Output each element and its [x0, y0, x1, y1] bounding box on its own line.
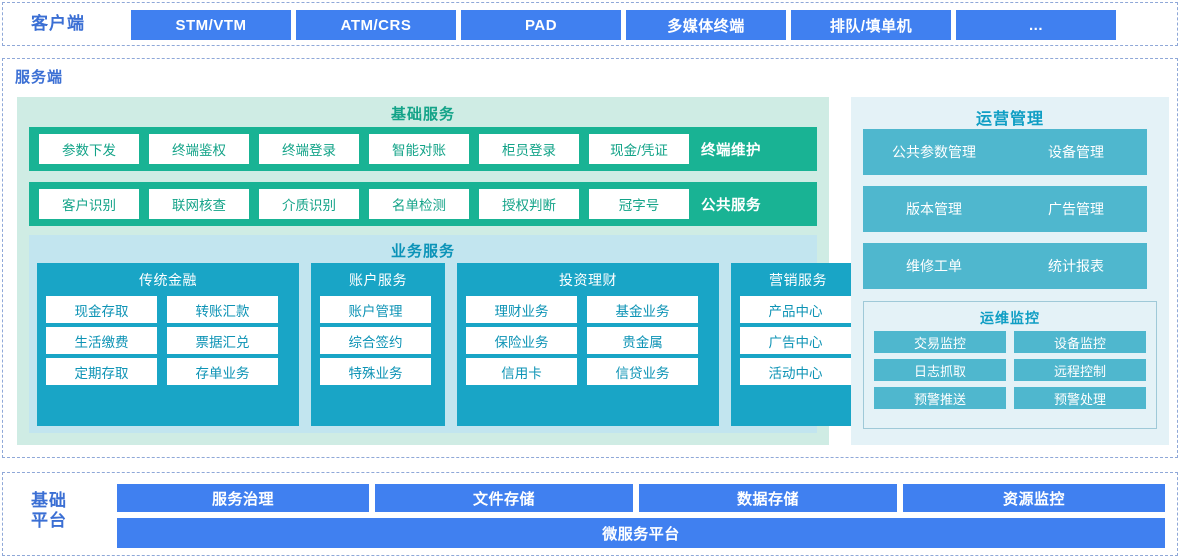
base-platform-chip[interactable]: 资源监控: [903, 484, 1165, 512]
business-column-items: 理财业务基金业务保险业务贵金属信用卡信贷业务: [457, 292, 719, 393]
base-platform-microservice-bar[interactable]: 微服务平台: [117, 518, 1165, 548]
business-service-chip[interactable]: 基金业务: [587, 296, 698, 323]
operations-chip[interactable]: 公共参数管理: [863, 129, 1005, 175]
base-platform-panel: 基础 平台 微服务平台 服务治理文件存储数据存储资源监控: [2, 472, 1178, 556]
basic-service-chip[interactable]: 冠字号: [589, 189, 689, 219]
business-column-title: 投资理财: [457, 268, 719, 292]
client-layer-panel: 客户端 STM/VTMATM/CRSPAD多媒体终端排队/填单机...: [2, 2, 1178, 46]
base-platform-chip[interactable]: 服务治理: [117, 484, 369, 512]
business-service-chip[interactable]: 保险业务: [466, 327, 577, 354]
operations-management-title: 运营管理: [851, 105, 1169, 129]
basic-service-group-tag: 公共服务: [701, 194, 761, 215]
business-service-chip[interactable]: 账户管理: [320, 296, 431, 323]
client-item-4[interactable]: 多媒体终端: [626, 10, 786, 40]
basic-services-row-terminal: 参数下发终端鉴权终端登录智能对账柜员登录现金/凭证终端维护: [29, 127, 817, 171]
business-column-items: 现金存取转账汇款生活缴费票据汇兑定期存取存单业务: [37, 292, 299, 393]
basic-service-chip[interactable]: 介质识别: [259, 189, 359, 219]
base-platform-chip[interactable]: 文件存储: [375, 484, 633, 512]
business-service-chip[interactable]: 存单业务: [167, 358, 278, 385]
server-layer-label: 服务端: [15, 69, 63, 87]
business-column-3: 投资理财理财业务基金业务保险业务贵金属信用卡信贷业务: [457, 263, 719, 426]
monitoring-chip[interactable]: 日志抓取: [874, 359, 1006, 381]
monitoring-chip[interactable]: 预警推送: [874, 387, 1006, 409]
basic-service-chip[interactable]: 现金/凭证: [589, 134, 689, 164]
business-services-area: 业务服务 传统金融现金存取转账汇款生活缴费票据汇兑定期存取存单业务账户服务账户管…: [29, 235, 817, 433]
basic-service-chip[interactable]: 柜员登录: [479, 134, 579, 164]
monitoring-chip[interactable]: 设备监控: [1014, 331, 1146, 353]
architecture-diagram: 客户端 STM/VTMATM/CRSPAD多媒体终端排队/填单机... 服务端 …: [0, 0, 1180, 560]
client-item-5[interactable]: 排队/填单机: [791, 10, 951, 40]
business-service-chip[interactable]: 产品中心: [740, 296, 851, 323]
business-service-chip[interactable]: 广告中心: [740, 327, 851, 354]
monitoring-chip[interactable]: 远程控制: [1014, 359, 1146, 381]
operations-management-area: 运营管理 运维监控 交易监控设备监控日志抓取远程控制预警推送预警处理 公共参数管…: [851, 97, 1169, 445]
business-service-chip[interactable]: 信用卡: [466, 358, 577, 385]
business-services-title: 业务服务: [29, 240, 817, 261]
monitoring-chip[interactable]: 预警处理: [1014, 387, 1146, 409]
server-layer-panel: 服务端 基础服务 参数下发终端鉴权终端登录智能对账柜员登录现金/凭证终端维护 客…: [2, 58, 1178, 458]
business-column-items: 产品中心广告中心活动中心: [731, 292, 865, 393]
operations-chip[interactable]: 广告管理: [1005, 186, 1147, 232]
client-layer-label: 客户端: [31, 14, 85, 34]
operations-chip[interactable]: 统计报表: [1005, 243, 1147, 289]
business-column-title: 传统金融: [37, 268, 299, 292]
operations-monitoring-box: 运维监控 交易监控设备监控日志抓取远程控制预警推送预警处理: [863, 301, 1157, 429]
basic-service-chip[interactable]: 联网核查: [149, 189, 249, 219]
operations-monitoring-title: 运维监控: [864, 308, 1156, 328]
client-item-1[interactable]: STM/VTM: [131, 10, 291, 40]
basic-service-chip[interactable]: 参数下发: [39, 134, 139, 164]
business-service-chip[interactable]: 贵金属: [587, 327, 698, 354]
client-item-2[interactable]: ATM/CRS: [296, 10, 456, 40]
business-service-chip[interactable]: 生活缴费: [46, 327, 157, 354]
basic-services-area: 基础服务 参数下发终端鉴权终端登录智能对账柜员登录现金/凭证终端维护 客户识别联…: [17, 97, 829, 445]
client-item-6[interactable]: ...: [956, 10, 1116, 40]
business-service-chip[interactable]: 特殊业务: [320, 358, 431, 385]
basic-services-row-public: 客户识别联网核查介质识别名单检测授权判断冠字号公共服务: [29, 182, 817, 226]
operations-chip[interactable]: 维修工单: [863, 243, 1005, 289]
business-service-chip[interactable]: 定期存取: [46, 358, 157, 385]
monitoring-chip[interactable]: 交易监控: [874, 331, 1006, 353]
basic-service-group-tag: 终端维护: [701, 139, 761, 160]
business-column-title: 营销服务: [731, 268, 865, 292]
business-service-chip[interactable]: 理财业务: [466, 296, 577, 323]
business-column-4: 营销服务产品中心广告中心活动中心: [731, 263, 865, 426]
business-service-chip[interactable]: 票据汇兑: [167, 327, 278, 354]
basic-service-chip[interactable]: 智能对账: [369, 134, 469, 164]
business-column-1: 传统金融现金存取转账汇款生活缴费票据汇兑定期存取存单业务: [37, 263, 299, 426]
basic-service-chip[interactable]: 终端鉴权: [149, 134, 249, 164]
business-column-items: 账户管理综合签约特殊业务: [311, 292, 445, 393]
business-service-chip[interactable]: 转账汇款: [167, 296, 278, 323]
basic-service-chip[interactable]: 名单检测: [369, 189, 469, 219]
base-platform-chip[interactable]: 数据存储: [639, 484, 897, 512]
basic-service-chip[interactable]: 终端登录: [259, 134, 359, 164]
basic-services-title: 基础服务: [17, 103, 829, 124]
basic-service-chip[interactable]: 客户识别: [39, 189, 139, 219]
operations-chip[interactable]: 版本管理: [863, 186, 1005, 232]
client-item-3[interactable]: PAD: [461, 10, 621, 40]
business-service-chip[interactable]: 信贷业务: [587, 358, 698, 385]
base-platform-label: 基础 平台: [31, 491, 67, 531]
business-service-chip[interactable]: 活动中心: [740, 358, 851, 385]
business-service-chip[interactable]: 综合签约: [320, 327, 431, 354]
operations-chip[interactable]: 设备管理: [1005, 129, 1147, 175]
basic-service-chip[interactable]: 授权判断: [479, 189, 579, 219]
business-service-chip[interactable]: 现金存取: [46, 296, 157, 323]
business-column-title: 账户服务: [311, 268, 445, 292]
business-column-2: 账户服务账户管理综合签约特殊业务: [311, 263, 445, 426]
